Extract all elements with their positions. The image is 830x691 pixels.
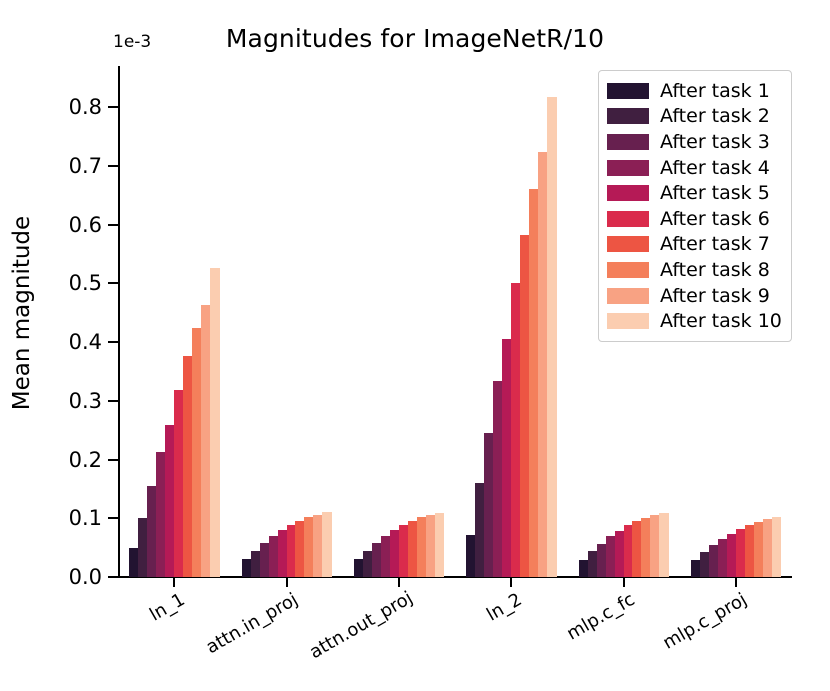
legend-label: After task 6: [660, 208, 770, 230]
y-tick-label: 0.0: [18, 565, 102, 589]
y-tick-label: 0.3: [18, 389, 102, 413]
x-tick-label-attn.out_proj: attn.out_proj: [306, 589, 413, 663]
x-tick-label-mlp.c_proj: mlp.c_proj: [643, 589, 750, 663]
legend-swatch-icon: [607, 83, 649, 99]
y-tick-label: 0.8: [18, 95, 102, 119]
x-tick-mark: [286, 578, 288, 587]
legend-swatch-icon: [607, 288, 649, 304]
y-tick-label: 0.1: [18, 506, 102, 530]
legend-swatch-icon: [607, 262, 649, 278]
y-tick-mark: [108, 165, 118, 167]
y-tick-label: 0.4: [18, 330, 102, 354]
legend-label: After task 4: [660, 157, 770, 179]
y-tick-label: 0.2: [18, 448, 102, 472]
y-tick-label: 0.7: [18, 154, 102, 178]
y-tick-label: 0.6: [18, 213, 102, 237]
legend-label: After task 1: [660, 80, 770, 102]
x-tick-mark: [623, 578, 625, 587]
legend-item-2[interactable]: After task 2: [607, 104, 782, 130]
legend-item-3[interactable]: After task 3: [607, 129, 782, 155]
legend-label: After task 9: [660, 285, 770, 307]
legend-label: After task 2: [660, 105, 770, 127]
bar-ln_2-series-10: [547, 97, 557, 577]
legend-label: After task 5: [660, 182, 770, 204]
legend-label: After task 10: [660, 310, 782, 332]
bar-ln_1-series-10: [210, 268, 220, 577]
legend-item-1[interactable]: After task 1: [607, 78, 782, 104]
legend-swatch-icon: [607, 134, 649, 150]
bar-mlp.c_fc-series-10: [659, 513, 669, 577]
legend-item-5[interactable]: After task 5: [607, 180, 782, 206]
y-tick-mark: [108, 400, 118, 402]
legend-swatch-icon: [607, 313, 649, 329]
legend-item-6[interactable]: After task 6: [607, 206, 782, 232]
y-tick-mark: [108, 517, 118, 519]
x-tick-mark: [173, 578, 175, 587]
legend-label: After task 7: [660, 233, 770, 255]
legend-item-10[interactable]: After task 10: [607, 308, 782, 334]
legend-swatch-icon: [607, 160, 649, 176]
legend-label: After task 3: [660, 131, 770, 153]
y-tick-mark: [108, 576, 118, 578]
x-tick-mark: [398, 578, 400, 587]
y-tick-mark: [108, 106, 118, 108]
bar-attn.in_proj-series-10: [322, 512, 332, 577]
bar-mlp.c_proj-series-10: [772, 517, 782, 577]
legend: After task 1After task 2After task 3Afte…: [598, 70, 792, 342]
legend-swatch-icon: [607, 185, 649, 201]
x-tick-mark: [735, 578, 737, 587]
bar-attn.out_proj-series-10: [435, 513, 445, 577]
y-tick-mark: [108, 341, 118, 343]
legend-swatch-icon: [607, 236, 649, 252]
x-tick-label-ln_1: ln_1: [81, 589, 188, 663]
y-tick-mark: [108, 224, 118, 226]
x-tick-label-ln_2: ln_2: [418, 589, 525, 663]
y-tick-mark: [108, 459, 118, 461]
x-tick-label-mlp.c_fc: mlp.c_fc: [531, 589, 638, 663]
legend-item-8[interactable]: After task 8: [607, 257, 782, 283]
y-tick-mark: [108, 282, 118, 284]
x-tick-mark: [510, 578, 512, 587]
figure-canvas: 1e-3 Magnitudes for ImageNetR/10 Mean ma…: [0, 0, 830, 691]
chart-title: Magnitudes for ImageNetR/10: [0, 24, 830, 53]
x-tick-label-attn.in_proj: attn.in_proj: [194, 589, 301, 663]
legend-swatch-icon: [607, 108, 649, 124]
legend-label: After task 8: [660, 259, 770, 281]
legend-swatch-icon: [607, 211, 649, 227]
legend-item-7[interactable]: After task 7: [607, 232, 782, 258]
legend-item-4[interactable]: After task 4: [607, 155, 782, 181]
y-tick-label: 0.5: [18, 271, 102, 295]
legend-item-9[interactable]: After task 9: [607, 283, 782, 309]
